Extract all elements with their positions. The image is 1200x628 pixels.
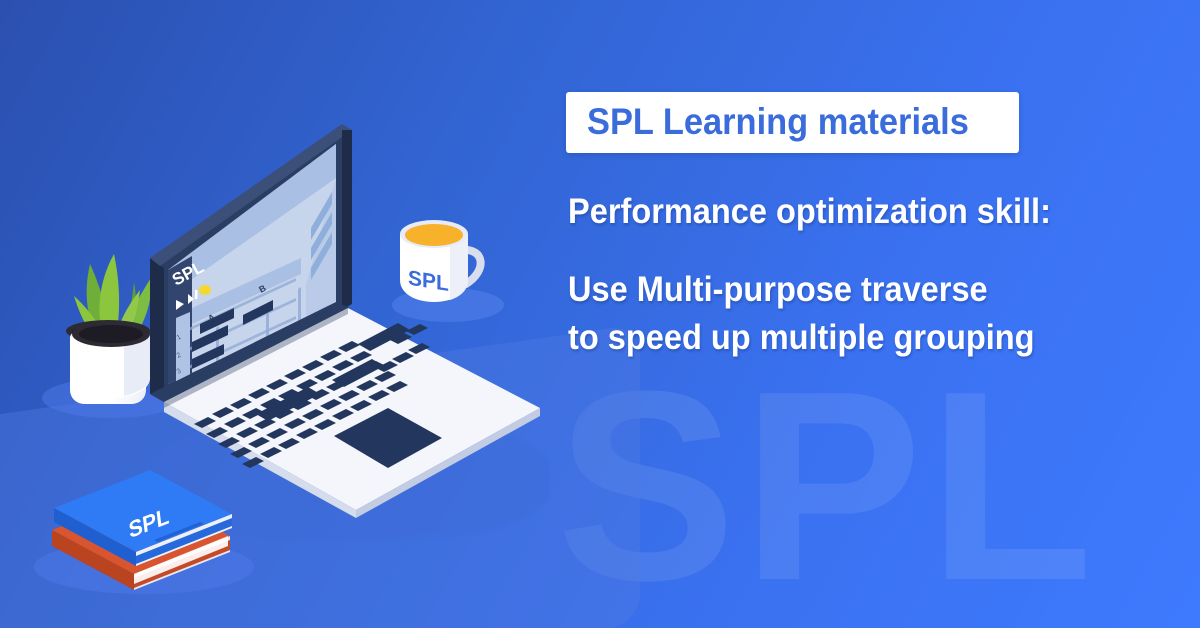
- laptop-svg: SPL A B 1 2 3 4: [120, 118, 560, 518]
- mug-coffee: [405, 224, 463, 246]
- body-line-2: to speed up multiple grouping: [568, 317, 1035, 359]
- step-over-bar: [195, 290, 197, 299]
- laptop-lid-side: [342, 130, 352, 310]
- laptop-lid-edge: [150, 258, 164, 402]
- cursor-dot-icon: [199, 285, 211, 295]
- isometric-laptop: SPL A B 1 2 3 4: [120, 118, 560, 518]
- promo-banner: SPL: [0, 0, 1200, 628]
- title-badge: SPL Learning materials: [566, 92, 1019, 153]
- body-line-1: Use Multi-purpose traverse: [568, 269, 988, 311]
- subheadline: Performance optimization skill:: [568, 191, 1051, 233]
- coffee-mug: SPL: [392, 212, 502, 317]
- page-title: SPL Learning materials: [587, 101, 969, 142]
- mug-svg: SPL: [392, 212, 502, 312]
